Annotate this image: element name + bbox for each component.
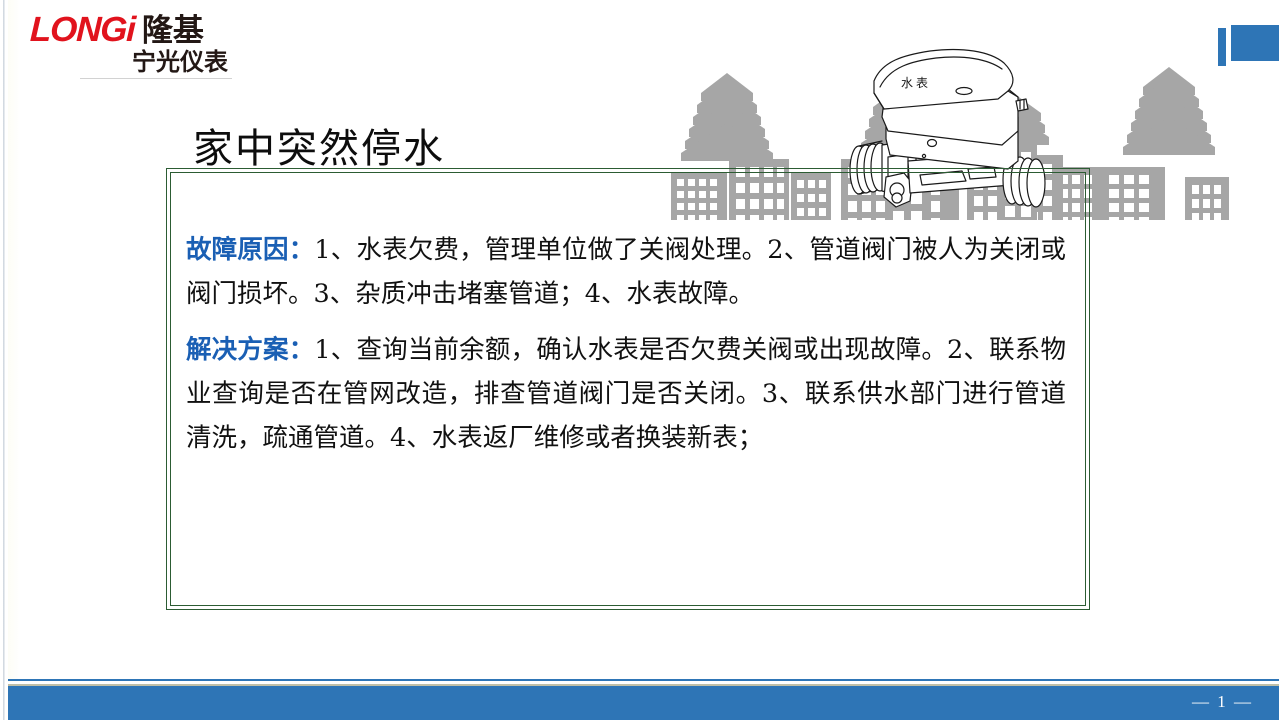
paragraph-cause-lead: 故障原因： bbox=[186, 235, 314, 265]
water-meter-label: 水表 bbox=[901, 74, 931, 91]
footer-bar bbox=[8, 686, 1279, 720]
paragraph-solution: 解决方案：1、查询当前余额，确认水表是否欠费关阀或出现故障。2、联系物业查询是否… bbox=[186, 328, 1066, 460]
top-right-accent-block bbox=[1231, 25, 1279, 61]
top-right-accent-bar bbox=[1218, 28, 1226, 66]
content-body: 故障原因：1、水表欠费，管理单位做了关阀处理。2、管道阀门被人为关闭或阀门损坏。… bbox=[186, 228, 1066, 460]
brand-logo: LONGi 隆基 宁光仪表 bbox=[30, 12, 230, 78]
brand-logo-subtitle: 宁光仪表 bbox=[30, 48, 230, 76]
footer-rule-blue bbox=[8, 679, 1279, 681]
paragraph-cause-text: 1、水表欠费，管理单位做了关阀处理。2、管道阀门被人为关闭或阀门损坏。3、杂质冲… bbox=[186, 235, 1066, 309]
brand-logo-latin: LONGi bbox=[29, 12, 135, 48]
brand-logo-underline bbox=[80, 78, 232, 79]
slide-root: LONGi 隆基 宁光仪表 家中突然停水 bbox=[0, 0, 1279, 720]
paragraph-solution-lead: 解决方案： bbox=[186, 335, 314, 365]
page-title: 家中突然停水 bbox=[193, 116, 445, 174]
brand-logo-primary: LONGi 隆基 bbox=[30, 12, 230, 48]
page-number: — 1 — bbox=[1192, 692, 1253, 712]
left-edge-fill bbox=[8, 0, 20, 720]
paragraph-cause: 故障原因：1、水表欠费，管理单位做了关阀处理。2、管道阀门被人为关闭或阀门损坏。… bbox=[186, 228, 1066, 316]
paragraph-solution-text: 1、查询当前余额，确认水表是否欠费关阀或出现故障。2、联系物业查询是否在管网改造… bbox=[186, 335, 1066, 453]
brand-logo-chinese: 隆基 bbox=[142, 13, 204, 49]
left-edge-rule bbox=[3, 0, 5, 720]
